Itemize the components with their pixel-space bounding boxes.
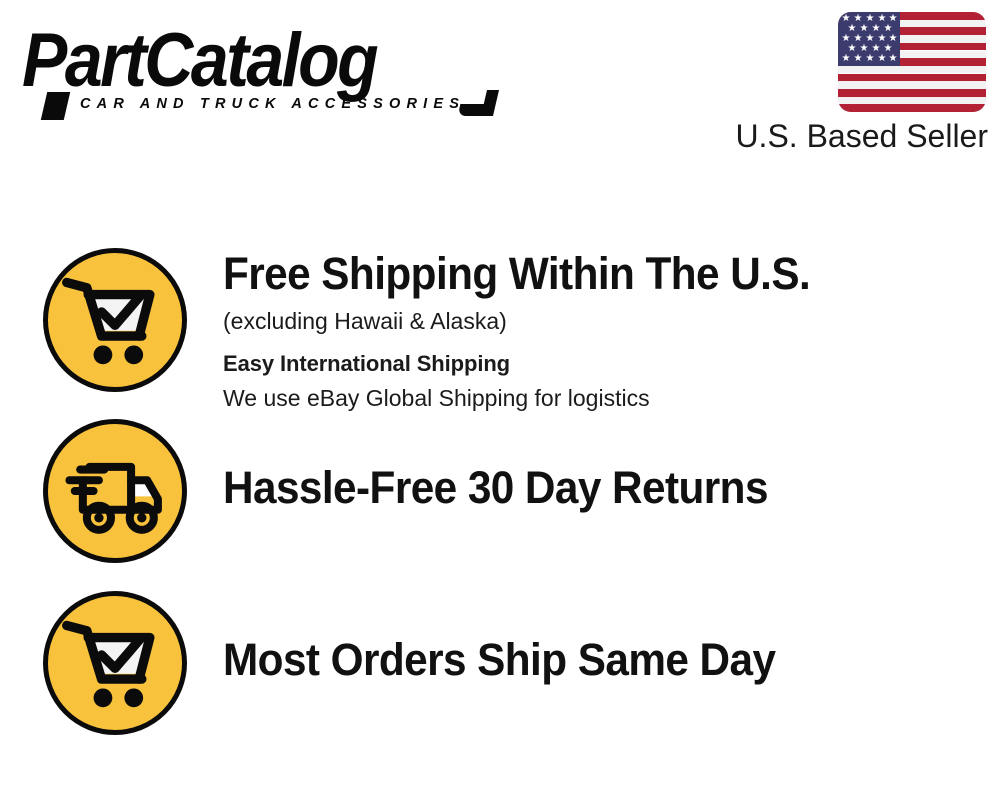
flag-stripe <box>838 89 986 97</box>
brand-tagline: CAR AND TRUCK ACCESSORIES <box>80 96 465 112</box>
feature-subheading: Easy International Shipping <box>223 348 983 380</box>
logo-descender-right-stem <box>481 90 499 116</box>
feature-row: Most Orders Ship Same Day <box>0 591 1000 743</box>
feature-row: Free Shipping Within The U.S. (excluding… <box>0 248 1000 408</box>
page-header: PartCatalog CAR AND TRUCK ACCESSORIES ★ … <box>0 0 1000 170</box>
feature-title: Hassle-Free 30 Day Returns <box>223 462 937 514</box>
feature-text-block: Hassle-Free 30 Day Returns <box>223 462 983 514</box>
shopping-cart-check-icon <box>43 591 187 735</box>
flag-stripe <box>838 74 986 82</box>
flag-stripe <box>838 81 986 89</box>
feature-subtext: We use eBay Global Shipping for logistic… <box>223 382 983 415</box>
flag-canton: ★ ★ ★ ★ ★ ★ ★ ★ ★ ★ ★ ★ ★ ★ ★ ★ ★ ★ ★ ★ … <box>838 12 900 66</box>
feature-title: Most Orders Ship Same Day <box>223 634 937 686</box>
flag-stripe <box>838 66 986 74</box>
feature-row: Hassle-Free 30 Day Returns <box>0 419 1000 571</box>
feature-text-block: Free Shipping Within The U.S. (excluding… <box>223 248 983 415</box>
flag-stripe <box>838 97 986 105</box>
feature-title: Free Shipping Within The U.S. <box>223 248 937 300</box>
brand-logo[interactable]: PartCatalog CAR AND TRUCK ACCESSORIES <box>22 20 492 115</box>
feature-text-block: Most Orders Ship Same Day <box>223 634 983 686</box>
flag-stripe <box>838 104 986 112</box>
feature-note: (excluding Hawaii & Alaska) <box>223 305 983 338</box>
us-flag-icon: ★ ★ ★ ★ ★ ★ ★ ★ ★ ★ ★ ★ ★ ★ ★ ★ ★ ★ ★ ★ … <box>838 12 986 112</box>
delivery-truck-icon <box>43 419 187 563</box>
brand-wordmark: PartCatalog <box>22 20 376 101</box>
us-based-seller-label: U.S. Based Seller <box>726 117 988 155</box>
shopping-cart-check-icon <box>43 248 187 392</box>
